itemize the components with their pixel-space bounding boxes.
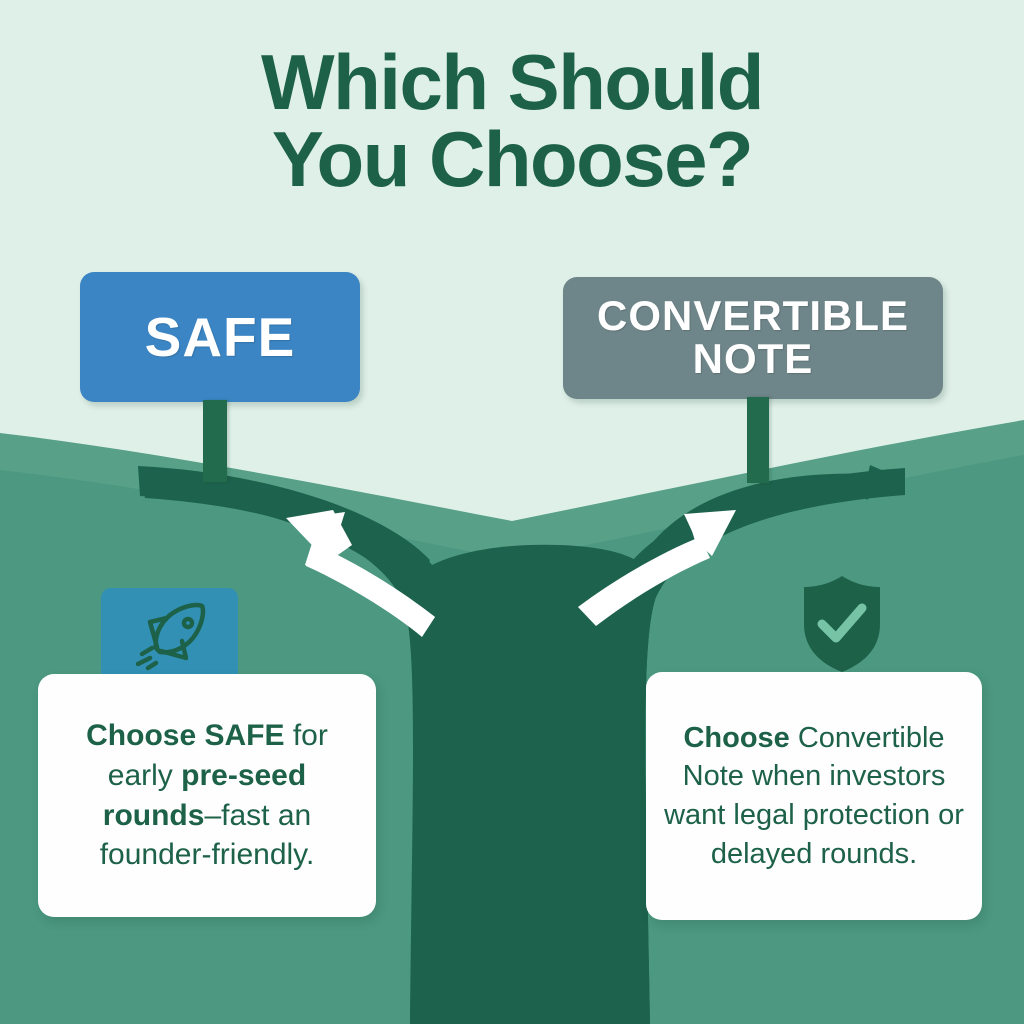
shield-check-icon [800, 572, 884, 676]
infographic-canvas: Which Should You Choose? SAFE CONVERTIBL… [0, 0, 1024, 1024]
shield-check-icon-badge [800, 572, 884, 676]
sign-safe[interactable]: SAFE [80, 272, 360, 402]
info-card-safe-text: Choose SAFE for early pre-seed rounds–fa… [56, 716, 358, 876]
sign-safe-post [203, 400, 227, 482]
info-card-convertible-note[interactable]: Choose Convertible Note when investors w… [646, 672, 982, 920]
sign-note-label-line-1: CONVERTIBLE [597, 292, 909, 339]
info-card-convertible-note-text: Choose Convertible Note when investors w… [664, 719, 964, 873]
rocket-icon-badge [101, 588, 238, 684]
sign-safe-label: SAFE [145, 309, 296, 365]
sign-convertible-note[interactable]: CONVERTIBLE NOTE [563, 277, 943, 399]
road-trunk [404, 545, 656, 1024]
rocket-icon [126, 598, 214, 674]
sign-convertible-note-post [747, 397, 769, 483]
info-card-safe[interactable]: Choose SAFE for early pre-seed rounds–fa… [38, 674, 376, 917]
sign-note-label-line-2: NOTE [693, 335, 814, 382]
sign-convertible-note-label: CONVERTIBLE NOTE [597, 295, 909, 381]
sign-convertible-note-board[interactable]: CONVERTIBLE NOTE [563, 277, 943, 399]
sign-safe-board[interactable]: SAFE [80, 272, 360, 402]
